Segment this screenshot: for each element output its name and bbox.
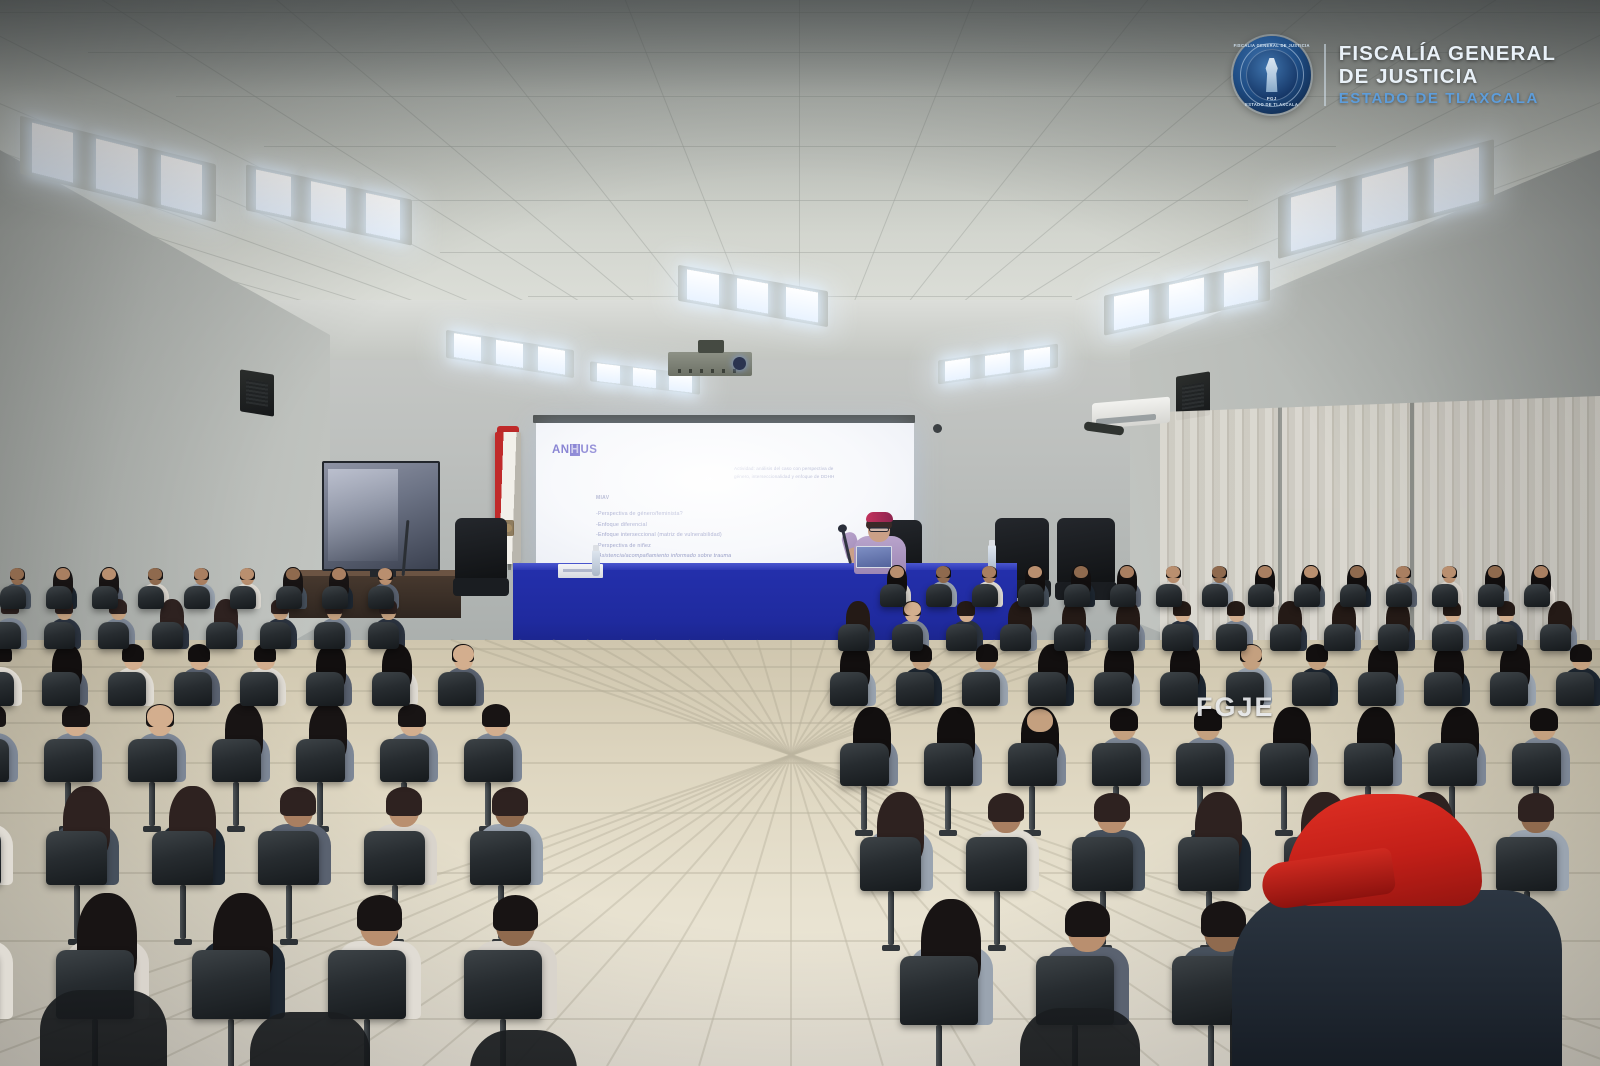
audience-chair [1294, 584, 1320, 607]
person-bald-crown [10, 568, 24, 580]
foreground-silhouette [1020, 1008, 1140, 1066]
audience-chair [1340, 584, 1366, 607]
audience-chair [470, 831, 531, 885]
person-bald-crown [240, 568, 254, 580]
audience-chair [1428, 743, 1477, 786]
audience-chair [966, 837, 1027, 891]
person-bald-crown [1396, 566, 1410, 578]
audience-chair [258, 831, 319, 885]
person-bald-crown [1027, 709, 1053, 732]
red-cap-person-torso [1232, 890, 1562, 1066]
audience-chair [880, 584, 906, 607]
audience-chair [896, 672, 934, 706]
person-bald-crown [1074, 566, 1088, 578]
slide-section-label: MIAV [596, 495, 609, 501]
person-hair [1110, 708, 1138, 731]
audience-chair [1178, 837, 1239, 891]
person-hair [1530, 708, 1558, 731]
chair-leg [1208, 1025, 1214, 1066]
audience-chair [306, 672, 344, 706]
seal-initials: PGJ [1233, 96, 1311, 101]
person-hair [493, 895, 538, 931]
person-hair [398, 704, 426, 727]
person-hair [1227, 601, 1245, 615]
brand-text-block: FISCALÍA GENERAL DE JUSTICIA ESTADO DE T… [1339, 43, 1556, 108]
audience-chair [1000, 624, 1031, 652]
person-bald-crown [147, 705, 173, 728]
chair-foot [174, 939, 192, 945]
chair-leg [936, 1025, 942, 1066]
chair-leg [233, 782, 239, 825]
audience-chair [108, 672, 146, 706]
person-bald-crown [286, 568, 300, 580]
audience-chair [1432, 584, 1458, 607]
projector-mount [698, 340, 724, 353]
foreground-silhouette [250, 1012, 370, 1066]
audience-chair [44, 739, 93, 782]
person-bald-crown [1166, 566, 1180, 578]
person-hair [1065, 901, 1110, 937]
person-bald-crown [148, 568, 162, 580]
audience-chair [438, 672, 476, 706]
audience-chair [1176, 743, 1225, 786]
slide-logo-pre: AN [552, 444, 570, 456]
photo-canvas: ANHUS Actividad: análisis del caso con p… [0, 0, 1600, 1066]
audience-chair [372, 672, 410, 706]
person-torso [0, 824, 13, 885]
audience-chair [1094, 672, 1132, 706]
person-bald-crown [1212, 566, 1226, 578]
audience-chair [44, 622, 75, 650]
chair-leg [228, 1019, 234, 1066]
audience-chair [1110, 584, 1136, 607]
audience-chair [900, 956, 978, 1025]
foreground-silhouette [470, 1030, 577, 1066]
fiscalia-seal-icon: FISCALIA GENERAL DE JUSTICIA PGJ ESTADO … [1233, 36, 1311, 114]
audience-chair [962, 672, 1000, 706]
person-hair [357, 895, 402, 931]
audience-chair [46, 586, 72, 609]
audience-chair [1028, 672, 1066, 706]
person-hair [492, 787, 527, 815]
audience-chair [212, 739, 261, 782]
person-bald-crown [1488, 566, 1502, 578]
person-hair [0, 704, 6, 727]
audience-chair [1496, 837, 1557, 891]
wall-television [322, 461, 440, 571]
person-hair [988, 793, 1023, 821]
audience-member [0, 777, 16, 883]
audience-chair [0, 672, 14, 706]
person-bald-crown [982, 566, 996, 578]
audience-chair [1386, 584, 1412, 607]
audience-chair [860, 837, 921, 891]
audience-chair [98, 622, 129, 650]
audience-chair [1424, 672, 1462, 706]
audience-chair [1064, 584, 1090, 607]
person-bald-crown [1442, 566, 1456, 578]
audience-chair [0, 586, 26, 609]
person-bald-crown [936, 566, 950, 578]
audience-chair [972, 584, 998, 607]
person-bald-crown [1534, 566, 1548, 578]
person-bald-crown [1350, 566, 1364, 578]
audience-chair [1008, 743, 1057, 786]
audience-chair [128, 739, 177, 782]
chair-leg [888, 891, 894, 945]
audience-chair [260, 622, 291, 650]
brand-line-1: FISCALÍA GENERAL [1339, 43, 1556, 66]
audience-chair [0, 739, 9, 782]
projector-vents [678, 369, 738, 373]
audience-chair [1260, 743, 1309, 786]
conference-room: ANHUS Actividad: análisis del caso con p… [0, 0, 1600, 1066]
person-bald-crown [890, 566, 904, 578]
audience-chair [1018, 584, 1044, 607]
audience-chair [152, 622, 183, 650]
wall-speaker-left [240, 369, 274, 416]
audience-chair [1160, 672, 1198, 706]
audience-chair [892, 624, 923, 652]
wall-camera-icon [933, 424, 942, 433]
person-hair [976, 644, 998, 662]
person-bald-crown [102, 568, 116, 580]
audience-chair [368, 622, 399, 650]
chair-leg [1281, 786, 1287, 829]
audience-chair [1092, 743, 1141, 786]
audience-chair [1270, 624, 1301, 652]
audience-chair [926, 584, 952, 607]
audience-chair [42, 672, 80, 706]
person-bald-crown [904, 602, 921, 616]
brand-lockup: FISCALIA GENERAL DE JUSTICIA PGJ ESTADO … [1233, 36, 1556, 114]
seal-bottom-text: ESTADO DE TLAXCALA [1233, 102, 1311, 107]
audience-chair [1486, 624, 1517, 652]
presenter-headband [866, 512, 893, 522]
audience-chair [1054, 624, 1085, 652]
audience-chair [1216, 624, 1247, 652]
audience-chair [92, 586, 118, 609]
person-bald-crown [1120, 566, 1134, 578]
brand-line-3: ESTADO DE TLAXCALA [1339, 91, 1556, 108]
audience-chair [1378, 624, 1409, 652]
person-bald-crown [1028, 566, 1042, 578]
chair-foot [939, 830, 957, 836]
person-bald-crown [332, 568, 346, 580]
audience-chair [1432, 624, 1463, 652]
audience-member [0, 881, 16, 1016]
audience-chair [192, 950, 270, 1019]
audience-chair [1540, 624, 1571, 652]
person-hair [62, 704, 90, 727]
audience-chair [230, 586, 256, 609]
slide-logo-post: US [580, 444, 597, 456]
projector-lens-icon [733, 357, 746, 370]
audience-chair [464, 950, 542, 1019]
audience-chair [838, 624, 869, 652]
audience-chair [924, 743, 973, 786]
chair-leg [149, 782, 155, 825]
ceiling-projector [668, 352, 752, 376]
audience-chair [946, 624, 977, 652]
audience-chair [296, 739, 345, 782]
audience-chair [1072, 837, 1133, 891]
brand-divider [1324, 44, 1326, 106]
audience-chair [368, 586, 394, 609]
audience-chair [314, 622, 345, 650]
audience-chair [1478, 584, 1504, 607]
person-bald-crown [56, 568, 70, 580]
chair-leg [180, 885, 186, 939]
person-bald-crown [1258, 566, 1272, 578]
slide-logo-mid: H [570, 444, 581, 456]
projection-screen-housing [533, 415, 915, 423]
audience-chair [1358, 672, 1396, 706]
audience-chair [328, 950, 406, 1019]
audience-chair [240, 672, 278, 706]
audience-chair [152, 831, 213, 885]
person-bald-crown [1304, 566, 1318, 578]
seal-top-text: FISCALIA GENERAL DE JUSTICIA [1233, 43, 1311, 48]
audience-chair [840, 743, 889, 786]
audience-seating: FGJE [0, 560, 1600, 1066]
person-bald-crown [194, 568, 208, 580]
person-hair [1201, 901, 1246, 937]
presenter-glasses-icon [869, 527, 889, 532]
chair-leg [945, 786, 951, 829]
person-bald-crown [453, 645, 474, 663]
slide-activity-note: Actividad: análisis del caso con perspec… [734, 465, 836, 480]
audience-chair [1324, 624, 1355, 652]
audience-chair [364, 831, 425, 885]
audience-chair [206, 622, 237, 650]
audience-chair [1156, 584, 1182, 607]
audience-chair [380, 739, 429, 782]
audience-chair [1490, 672, 1528, 706]
audience-chair [0, 622, 21, 650]
fgje-jacket-text: FGJE [1196, 692, 1306, 722]
chair-foot [882, 945, 900, 951]
audience-chair [1524, 584, 1550, 607]
audience-chair [276, 586, 302, 609]
audience-chair [1162, 624, 1193, 652]
audience-chair [1248, 584, 1274, 607]
audience-chair [174, 672, 212, 706]
audience-chair [1512, 743, 1561, 786]
person-hair [482, 704, 510, 727]
slide-anthus-logo: ANHUS [552, 444, 597, 456]
audience-chair [830, 672, 868, 706]
audience-chair [184, 586, 210, 609]
person-hair [1570, 644, 1592, 662]
audience-chair [464, 739, 513, 782]
audience-chair [138, 586, 164, 609]
person-torso [0, 941, 13, 1019]
audience-chair [322, 586, 348, 609]
person-hair [280, 787, 315, 815]
person-bald-crown [378, 568, 392, 580]
person-hair [1518, 793, 1553, 821]
foreground-silhouette [40, 990, 167, 1066]
audience-chair [1556, 672, 1594, 706]
audience-chair [1108, 624, 1139, 652]
chair-foot [227, 826, 245, 832]
audience-chair [1344, 743, 1393, 786]
person-hair [386, 787, 421, 815]
person-hair [1094, 793, 1129, 821]
audience-chair [46, 831, 107, 885]
brand-line-2: DE JUSTICIA [1339, 66, 1556, 89]
audience-chair [1202, 584, 1228, 607]
